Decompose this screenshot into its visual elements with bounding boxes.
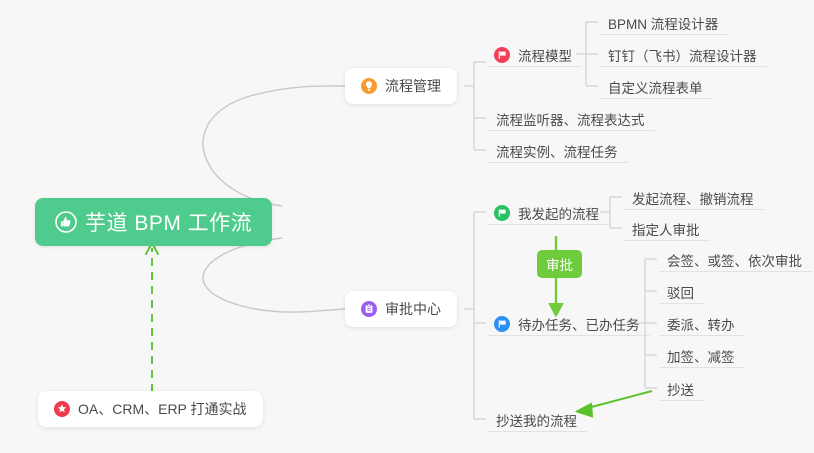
leaf-label-cc: 抄送 bbox=[667, 384, 694, 398]
lightbulb-circle-icon bbox=[361, 78, 377, 94]
leaf-node-bpmn-designer[interactable]: BPMN 流程设计器 bbox=[600, 9, 728, 35]
wire-root-to-approval-center bbox=[203, 238, 345, 312]
leaf-label-cc-to-me: 抄送我的流程 bbox=[496, 415, 577, 429]
root-node[interactable]: 芋道 BPM 工作流 bbox=[35, 198, 272, 246]
leaf-node-start-cancel-process[interactable]: 发起流程、撤销流程 bbox=[624, 184, 764, 210]
leaf-label-instance-task: 流程实例、流程任务 bbox=[496, 146, 618, 160]
mindmap-canvas: 芋道 BPM 工作流 OA、CRM、ERP 打通实战 流程管理 bbox=[0, 0, 814, 453]
leaf-node-countersign[interactable]: 会签、或签、依次审批 bbox=[659, 246, 812, 272]
leaf-label-dingtalk-designer: 钉钉（飞书）流程设计器 bbox=[608, 50, 757, 64]
sub-node-todo-done-tasks[interactable]: 待办任务、已办任务 bbox=[488, 310, 650, 336]
leaf-node-designated-approver[interactable]: 指定人审批 bbox=[624, 215, 710, 241]
root-label: 芋道 BPM 工作流 bbox=[85, 207, 252, 237]
leaf-node-add-remove-sign[interactable]: 加签、减签 bbox=[659, 342, 745, 368]
leaf-label-listener-expression: 流程监听器、流程表达式 bbox=[496, 114, 645, 128]
leaf-label-delegate-transfer: 委派、转办 bbox=[667, 319, 735, 333]
callout-label: OA、CRM、ERP 打通实战 bbox=[78, 399, 247, 419]
green-arrow-cc-to-cc-mine bbox=[576, 391, 652, 417]
dashed-arrow-callout-to-root bbox=[146, 243, 158, 392]
leaf-label-add-remove-sign: 加签、减签 bbox=[667, 351, 735, 365]
branch-node-process-management[interactable]: 流程管理 bbox=[345, 68, 457, 104]
leaf-node-reject[interactable]: 驳回 bbox=[659, 278, 704, 304]
clipboard-circle-icon bbox=[361, 301, 377, 317]
sub-node-label-my-started-processes: 我发起的流程 bbox=[518, 208, 599, 222]
wire-root-to-process-management bbox=[203, 86, 345, 206]
leaf-label-reject: 驳回 bbox=[667, 287, 694, 301]
leaf-node-cc[interactable]: 抄送 bbox=[659, 375, 704, 401]
leaf-node-listener-expression[interactable]: 流程监听器、流程表达式 bbox=[488, 105, 655, 131]
leaf-label-bpmn-designer: BPMN 流程设计器 bbox=[608, 18, 718, 32]
sub-node-process-model[interactable]: 流程模型 bbox=[488, 41, 582, 67]
star-circle-icon bbox=[54, 401, 70, 417]
leaf-label-start-cancel-process: 发起流程、撤销流程 bbox=[632, 193, 754, 207]
leaf-label-custom-form: 自定义流程表单 bbox=[608, 82, 703, 96]
leaf-node-instance-task[interactable]: 流程实例、流程任务 bbox=[488, 137, 628, 163]
leaf-node-cc-to-me[interactable]: 抄送我的流程 bbox=[488, 406, 587, 432]
sub-node-my-started-processes[interactable]: 我发起的流程 bbox=[488, 199, 609, 225]
flag-circle-icon bbox=[494, 316, 510, 332]
flag-circle-icon bbox=[494, 205, 510, 221]
annotation-tag-approval-label: 审批 bbox=[546, 254, 573, 274]
branch-label-process-management: 流程管理 bbox=[385, 76, 441, 96]
annotation-tag-approval: 审批 bbox=[537, 250, 582, 278]
thumbs-up-circle-icon bbox=[55, 211, 77, 233]
sub-node-label-process-model: 流程模型 bbox=[518, 50, 572, 64]
leaf-label-countersign: 会签、或签、依次审批 bbox=[667, 255, 802, 269]
callout-node-integration[interactable]: OA、CRM、ERP 打通实战 bbox=[38, 391, 263, 427]
sub-node-label-todo-done-tasks: 待办任务、已办任务 bbox=[518, 319, 640, 333]
leaf-node-dingtalk-designer[interactable]: 钉钉（飞书）流程设计器 bbox=[600, 41, 767, 67]
branch-node-approval-center[interactable]: 审批中心 bbox=[345, 291, 457, 327]
leaf-node-delegate-transfer[interactable]: 委派、转办 bbox=[659, 310, 745, 336]
branch-label-approval-center: 审批中心 bbox=[385, 299, 441, 319]
leaf-node-custom-form[interactable]: 自定义流程表单 bbox=[600, 73, 713, 99]
leaf-label-designated-approver: 指定人审批 bbox=[632, 224, 700, 238]
flag-circle-icon bbox=[494, 47, 510, 63]
